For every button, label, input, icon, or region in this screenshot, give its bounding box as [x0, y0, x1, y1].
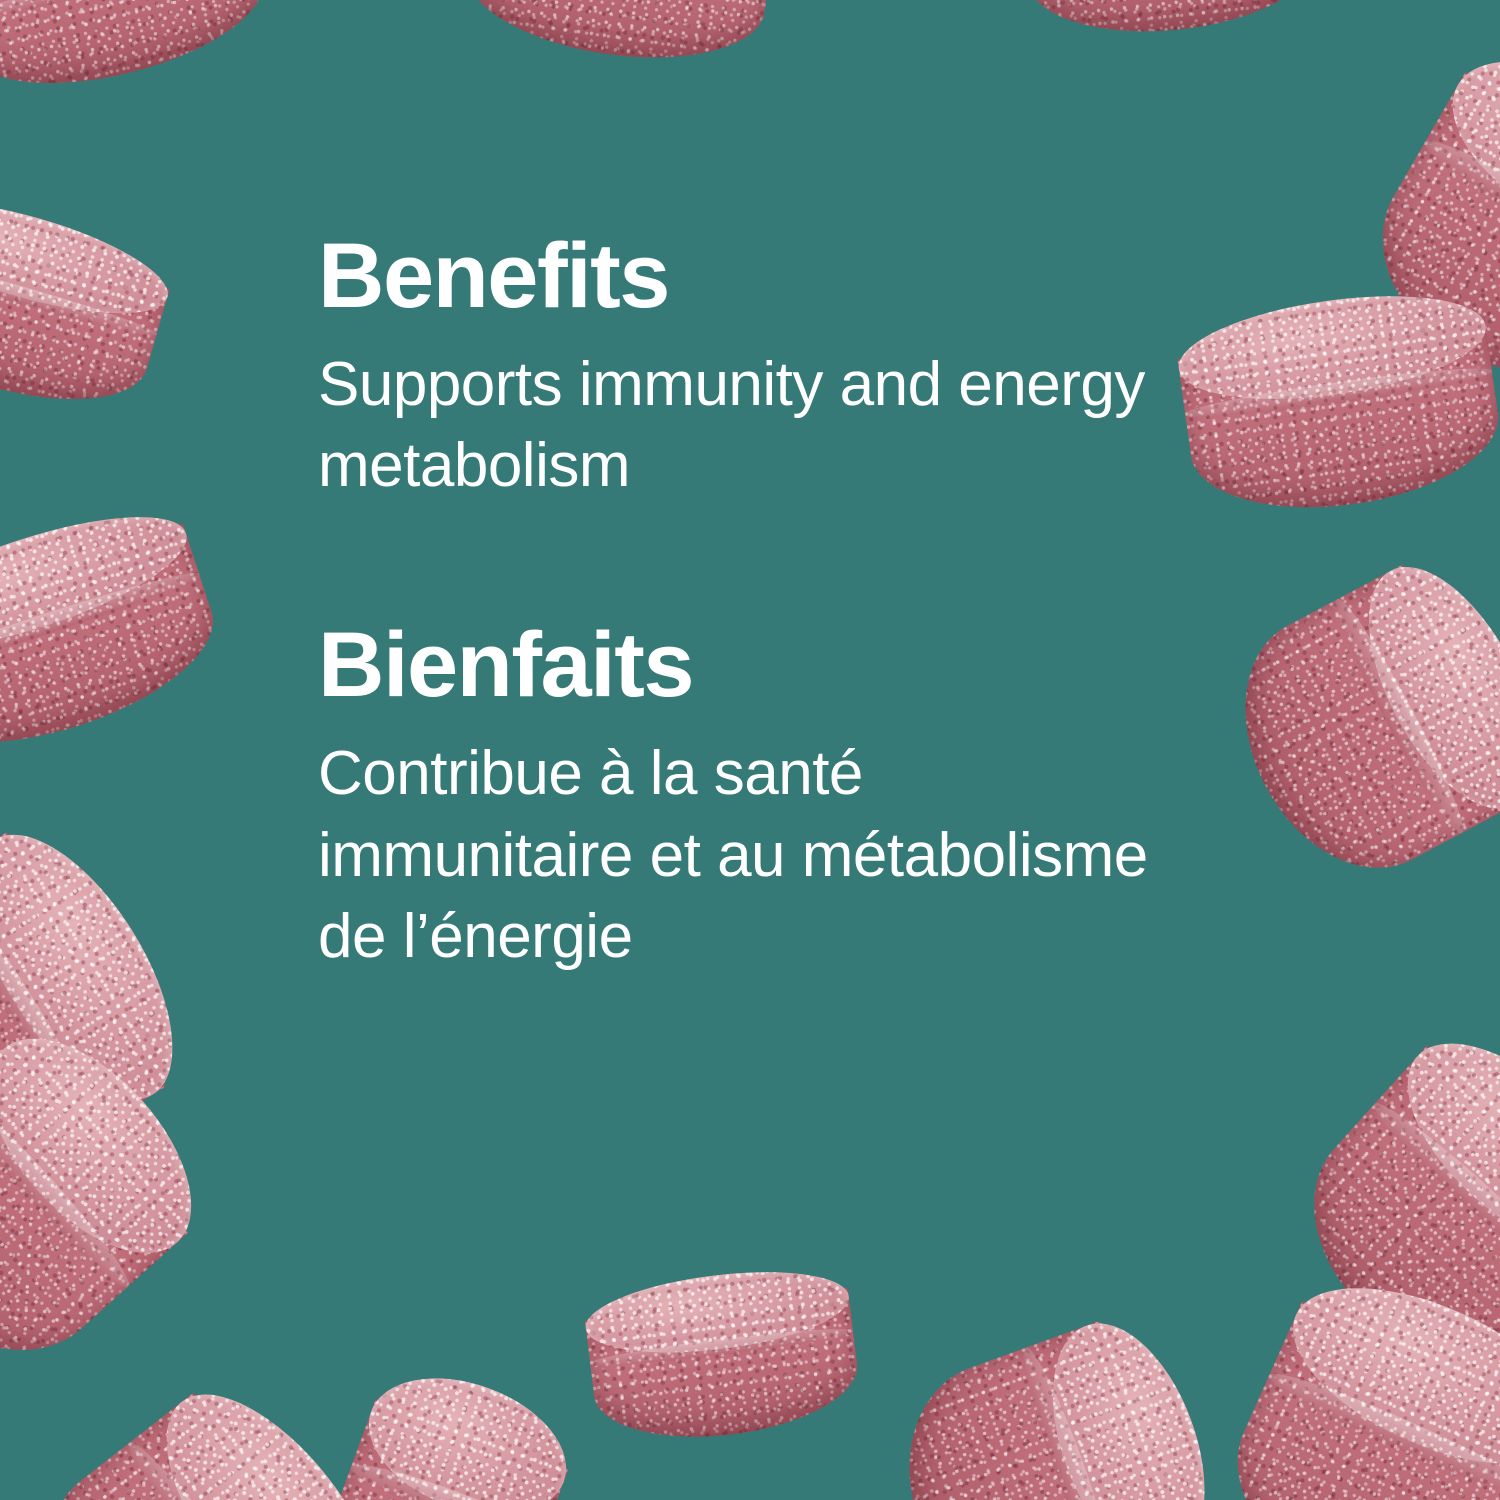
tablet-side: [459, 0, 777, 75]
chewable-tablet-icon-tablet-left-upper: [0, 178, 179, 426]
tablet-top-face: [1172, 279, 1492, 416]
chewable-tablet-icon-tablet-bottom-mid: [876, 1303, 1234, 1500]
tablet-top-face: [1268, 1252, 1500, 1500]
tablet-rim: [1263, 1362, 1500, 1500]
tablet-side: [585, 1288, 864, 1451]
tablet-rim: [0, 246, 159, 343]
tablet-rim: [0, 1083, 139, 1296]
chewable-tablet-icon-tablet-right-mid: [1204, 541, 1500, 904]
tablet-rim: [0, 565, 202, 682]
chewable-tablet-icon-tablet-bottom-center: [581, 1259, 864, 1450]
tablet-rim: [1325, 593, 1474, 840]
chewable-tablet-icon-tablet-left-bottom-edge: [0, 1003, 228, 1397]
tablet-rim: [1012, 1343, 1125, 1500]
tablet-side: [0, 0, 276, 109]
tablet-side: [876, 1321, 1185, 1500]
tablet-side: [1177, 316, 1500, 526]
tablet-top-face: [127, 1359, 420, 1500]
tablet-top-face: [0, 1003, 228, 1289]
tablet-rim: [1417, 129, 1500, 285]
chewable-tablet-icon-tablet-left-mid: [0, 490, 232, 774]
tablet-rim: [0, 867, 110, 1137]
tablet-rim: [1184, 361, 1494, 424]
tablet-top-face: [0, 490, 200, 674]
tablet-top-face: [1423, 25, 1500, 275]
tablet-side: [0, 832, 166, 1217]
chewable-tablet-icon-tablet-right-upper: [1172, 279, 1500, 525]
tablet-side: [1268, 1046, 1500, 1403]
tablet-rim: [589, 1323, 854, 1371]
chewable-tablet-icon-tablet-top-left-corner: [0, 0, 276, 109]
tablet-side: [300, 1399, 568, 1500]
tablet-rim: [346, 1455, 548, 1500]
tablet-side: [1204, 564, 1500, 904]
tablet-rim: [118, 1433, 326, 1500]
chewable-tablet-icon-tablet-bottom-left-a: [300, 1353, 585, 1500]
tablet-top-face: [0, 0, 254, 20]
tablet-top-face: [0, 803, 212, 1131]
tablet-rim: [0, 0, 256, 26]
chewable-tablet-icon-tablet-right-lower: [1268, 1007, 1500, 1403]
product-benefits-panel: Benefits Supports immunity and energy me…: [0, 0, 1500, 1500]
chewable-tablet-icon-tablet-top-center-left: [459, 0, 782, 75]
benefits-section-en: Benefits Supports immunity and energy me…: [318, 228, 1218, 507]
benefits-heading-en: Benefits: [318, 228, 1218, 326]
tablet-side: [1342, 72, 1500, 415]
tablet-top-face: [1372, 1007, 1500, 1287]
benefits-body-fr: Contribue à la santé immunitaire et au m…: [318, 733, 1158, 978]
benefits-content: Benefits Supports immunity and energy me…: [318, 228, 1218, 978]
tablet-top-face: [581, 1259, 853, 1364]
tablet-top-face: [350, 1353, 585, 1500]
benefits-heading-fr: Bienfaits: [318, 617, 1218, 715]
tablet-side: [0, 1039, 188, 1397]
benefits-body-en: Supports immunity and energy metabolism: [318, 344, 1158, 508]
chewable-tablet-icon-tablet-right-bottom: [1202, 1252, 1500, 1500]
chewable-tablet-icon-tablet-bottom-left-b: [0, 1359, 421, 1500]
chewable-tablet-icon-tablet-left-lower: [0, 803, 212, 1216]
benefits-section-fr: Bienfaits Contribue à la santé immunitai…: [318, 617, 1218, 978]
tablet-side: [1020, 0, 1324, 45]
tablet-top-face: [1335, 541, 1500, 834]
tablet-top-face: [1023, 1303, 1234, 1500]
chewable-tablet-icon-tablet-top-right-edge: [1342, 25, 1500, 415]
chewable-tablet-icon-tablet-top-center-right: [1016, 0, 1323, 45]
tablet-side: [0, 209, 170, 427]
tablet-rim: [1365, 1093, 1500, 1295]
tablet-side: [0, 1393, 378, 1500]
tablet-side: [1202, 1301, 1500, 1500]
tablet-side: [0, 524, 232, 775]
tablet-top-face: [0, 178, 179, 335]
